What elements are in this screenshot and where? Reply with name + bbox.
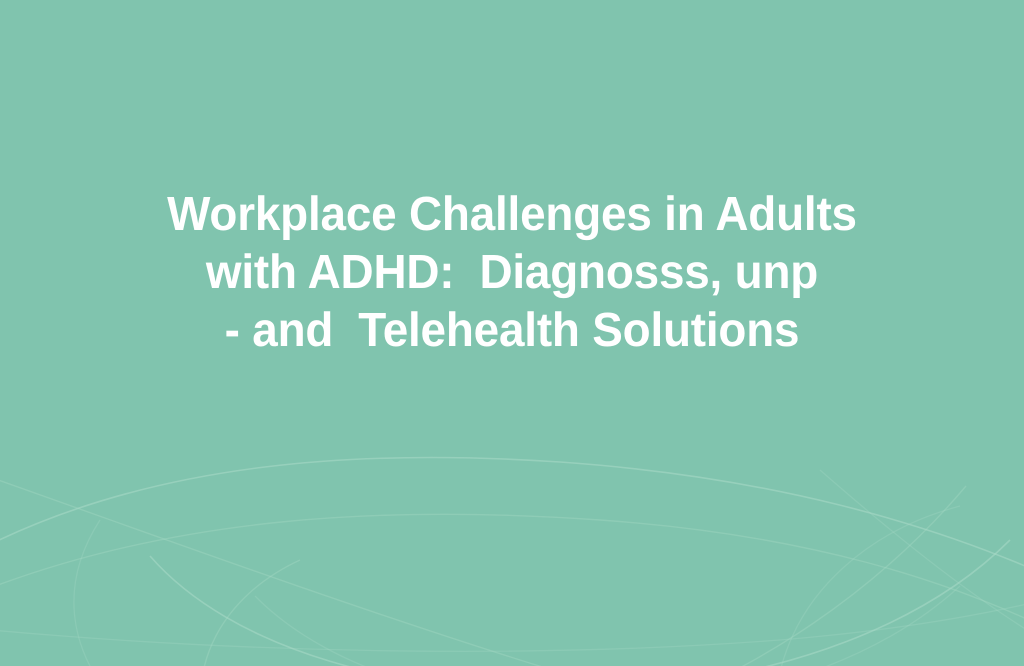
slide-canvas: Workplace Challenges in Adults with ADHD… [0, 0, 1024, 666]
decor-arc-bottom-flat [0, 596, 1024, 651]
title-line-2: with ADHD: Diagnosss, unp [23, 244, 1001, 302]
decor-arc-wide-lower [0, 514, 1024, 640]
title-line-1: Workplace Challenges in Adults [23, 186, 1001, 244]
decor-arc-bowl-inner [255, 586, 960, 666]
title-line-3: - and Telehealth Solutions [23, 302, 1001, 360]
decor-arc-right-descending [820, 470, 1024, 650]
slide-title: Workplace Challenges in Adults with ADHD… [0, 186, 1024, 360]
decor-arc-circle-midleft [201, 560, 300, 666]
decor-arc-dome-right [780, 506, 960, 666]
decor-arc-right-rising [620, 486, 966, 666]
decor-arc-diagonal-left [0, 470, 900, 666]
decor-arc-bowl-center [150, 540, 1010, 666]
decor-arc-wide-upper [0, 457, 1024, 586]
decor-arc-small-left [74, 520, 118, 666]
